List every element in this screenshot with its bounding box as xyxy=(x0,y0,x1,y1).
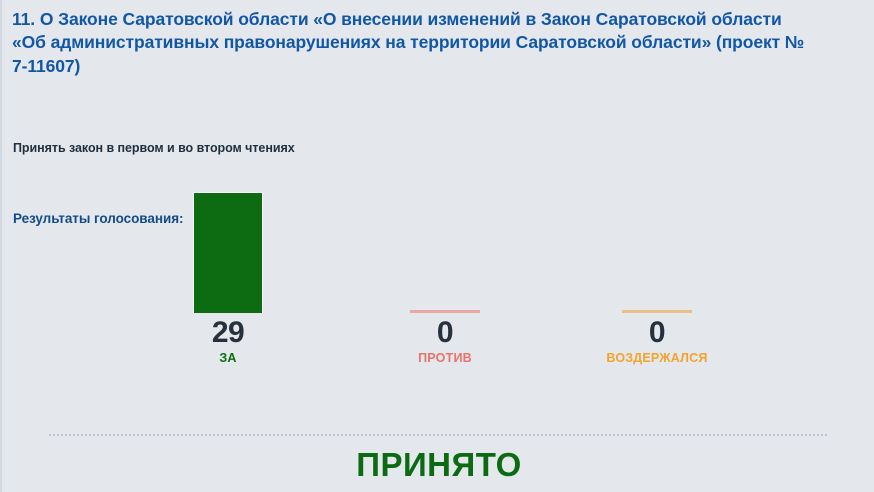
bar-wrap-for xyxy=(158,177,298,313)
vote-label-abstain: ВОЗДЕРЖАЛСЯ xyxy=(587,350,727,366)
vote-count-abstain: 0 xyxy=(587,316,727,350)
bar-wrap-against xyxy=(375,177,515,313)
vote-bar-chart: 29 ЗА 0 ПРОТИВ 0 ВОЗДЕРЖАЛСЯ xyxy=(2,230,874,430)
vote-count-for: 29 xyxy=(158,316,298,350)
vote-label-against: ПРОТИВ xyxy=(375,350,515,366)
vote-label-for: ЗА xyxy=(158,350,298,366)
verdict-text: ПРИНЯТО xyxy=(2,446,874,484)
agenda-item-title: 11. О Законе Саратовской области «О внес… xyxy=(12,8,812,78)
motion-text: Принять закон в первом и во втором чтени… xyxy=(13,141,295,155)
vote-column-for: 29 ЗА xyxy=(158,177,298,366)
bar-wrap-abstain xyxy=(587,177,727,313)
divider xyxy=(49,434,827,436)
bar-abstain xyxy=(622,310,692,313)
bar-for xyxy=(193,192,263,313)
vote-count-against: 0 xyxy=(375,316,515,350)
vote-column-against: 0 ПРОТИВ xyxy=(375,177,515,366)
vote-results-slide: 11. О Законе Саратовской области «О внес… xyxy=(0,0,874,492)
bar-against xyxy=(410,310,480,313)
vote-column-abstain: 0 ВОЗДЕРЖАЛСЯ xyxy=(587,177,727,366)
